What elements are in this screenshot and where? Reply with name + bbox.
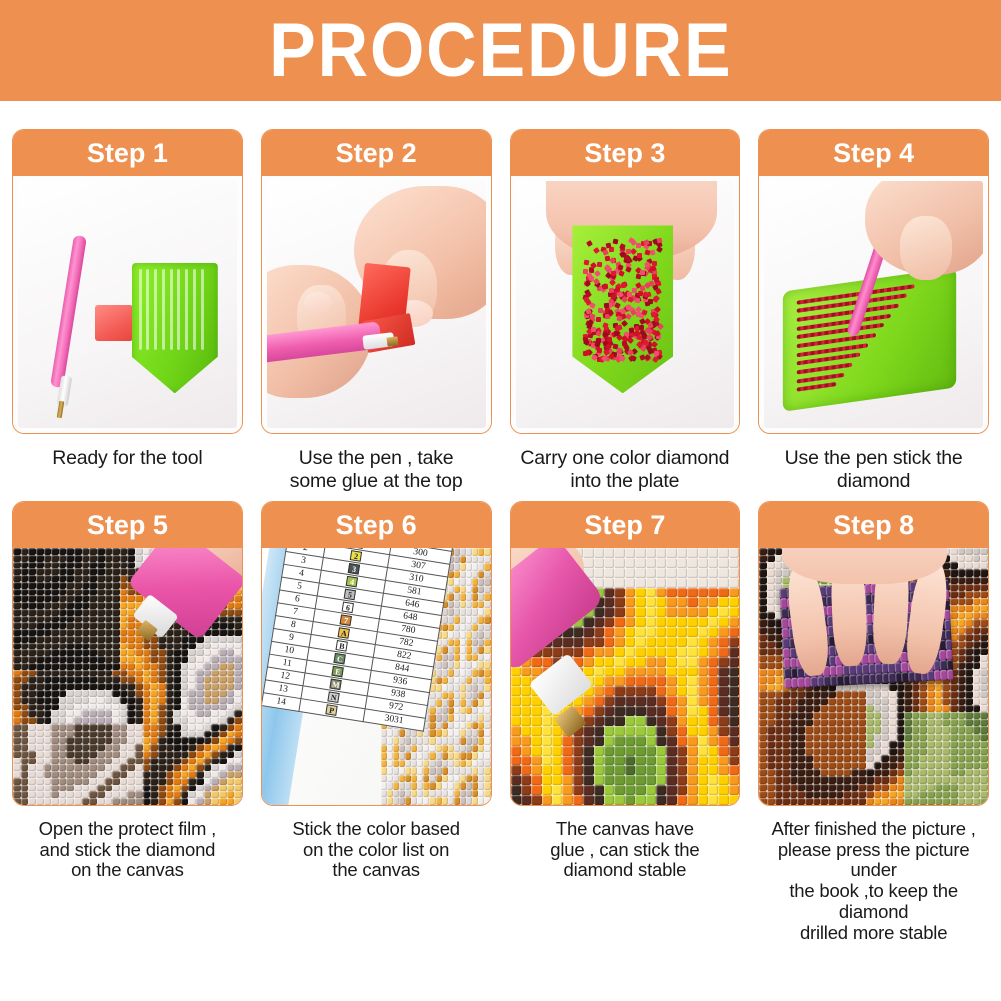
step-header-6: Step 6: [262, 502, 491, 548]
pen-icon: [511, 548, 606, 674]
step-body-6: No.SymbolDMC 113002230733310445815564666…: [262, 548, 491, 805]
color-chart-photo: No.SymbolDMC 113002230733310445815564666…: [262, 548, 491, 805]
line-up-diamonds-photo: [764, 181, 983, 428]
step-card-7[interactable]: Step 7: [510, 501, 741, 806]
step-header-8: Step 8: [759, 502, 988, 548]
chart-symbol-swatch: 7: [340, 614, 352, 626]
step-body-3: [511, 176, 740, 433]
drill-tray: [132, 263, 218, 394]
step-cell-7: Step 7 The canvas have glue , can stick …: [510, 501, 741, 943]
step-cell-1: Step 1 Ready for the tool: [12, 129, 243, 493]
step-card-3[interactable]: Step 3: [510, 129, 741, 434]
diamond-row: [796, 382, 836, 392]
diamond-row: [796, 372, 844, 383]
step-caption-5: Open the protect film , and stick the di…: [39, 819, 216, 881]
step-card-4[interactable]: Step 4: [758, 129, 989, 434]
pour-diamonds-photo: [516, 181, 735, 428]
glue-canvas-closeup-photo: [511, 548, 740, 805]
color-symbol-table: No.SymbolDMC 113002230733310445815564666…: [262, 548, 455, 732]
chart-symbol-swatch: 3: [348, 563, 360, 575]
chart-symbol-swatch: E: [332, 666, 344, 678]
steps-grid: Step 1 Ready for the tool Step 2: [0, 101, 1001, 943]
chart-symbol-swatch: M: [330, 678, 342, 690]
finger-thumb: [900, 216, 953, 280]
pen-into-glue-photo: [267, 181, 486, 428]
press-with-book-photo: [759, 548, 988, 805]
step-header-5: Step 5: [13, 502, 242, 548]
chart-symbol-swatch: 6: [342, 601, 354, 613]
chart-symbol-swatch: B: [336, 640, 348, 652]
page-title: PROCEDURE: [269, 13, 732, 89]
chart-symbol-swatch: N: [328, 691, 340, 703]
chart-symbol-swatch: A: [338, 627, 350, 639]
tool-kit-photo: [18, 181, 237, 428]
step-cell-6: Step 6 No.SymbolDMC 11300223073331044581…: [261, 501, 492, 943]
step-body-5: [13, 548, 242, 805]
step-header-7: Step 7: [511, 502, 740, 548]
chart-symbol-swatch: 4: [346, 576, 358, 588]
pen-tip-metal: [387, 336, 399, 346]
step-caption-4: Use the pen stick the diamond: [785, 447, 963, 493]
step-body-8: [759, 548, 988, 805]
step-card-2[interactable]: Step 2: [261, 129, 492, 434]
step-cell-4: Step 4 Use the pen stick the diamond: [758, 129, 989, 493]
step-caption-3: Carry one color diamond into the plate: [520, 447, 729, 493]
chart-symbol-swatch: 5: [344, 588, 356, 600]
step-card-5[interactable]: Step 5: [12, 501, 243, 806]
wax-square: [95, 305, 133, 341]
chart-symbol-swatch: P: [326, 704, 338, 716]
step-caption-6: Stick the color based on the color list …: [292, 819, 460, 881]
step-cell-2: Step 2 Use the pen , take some glue at t…: [261, 129, 492, 493]
step-body-2: [262, 176, 491, 433]
diamond-drills: [582, 236, 663, 364]
step-caption-1: Ready for the tool: [52, 447, 202, 470]
step-cell-5: Step 5 Open the protect film , and stick…: [12, 501, 243, 943]
drill-tray: [572, 225, 673, 393]
step-card-8[interactable]: Step 8: [758, 501, 989, 806]
step-header-3: Step 3: [511, 130, 740, 176]
step-cell-3: Step 3 Carry one color diamond into the …: [510, 129, 741, 493]
page-banner: PROCEDURE: [0, 0, 1001, 101]
pen-icon: [50, 235, 87, 388]
step-header-1: Step 1: [13, 130, 242, 176]
step-card-6[interactable]: Step 6 No.SymbolDMC 11300223073331044581…: [261, 501, 492, 806]
step-caption-7: The canvas have glue , can stick the dia…: [550, 819, 699, 881]
step-body-1: [13, 176, 242, 433]
step-cell-8: Step 8 After finished the picture , plea…: [758, 501, 989, 943]
chart-symbol-swatch: 1: [353, 548, 365, 549]
step-body-7: [511, 548, 740, 805]
chart-symbol-swatch: C: [334, 653, 346, 665]
step-card-1[interactable]: Step 1: [12, 129, 243, 434]
step-caption-2: Use the pen , take some glue at the top: [290, 447, 463, 493]
step-header-2: Step 2: [262, 130, 491, 176]
chart-symbol-swatch: 2: [351, 550, 363, 562]
stick-on-canvas-photo: [13, 548, 242, 805]
step-header-4: Step 4: [759, 130, 988, 176]
step-caption-8: After finished the picture , please pres…: [758, 819, 989, 943]
step-body-4: [759, 176, 988, 433]
pen-tip-white: [528, 653, 593, 716]
